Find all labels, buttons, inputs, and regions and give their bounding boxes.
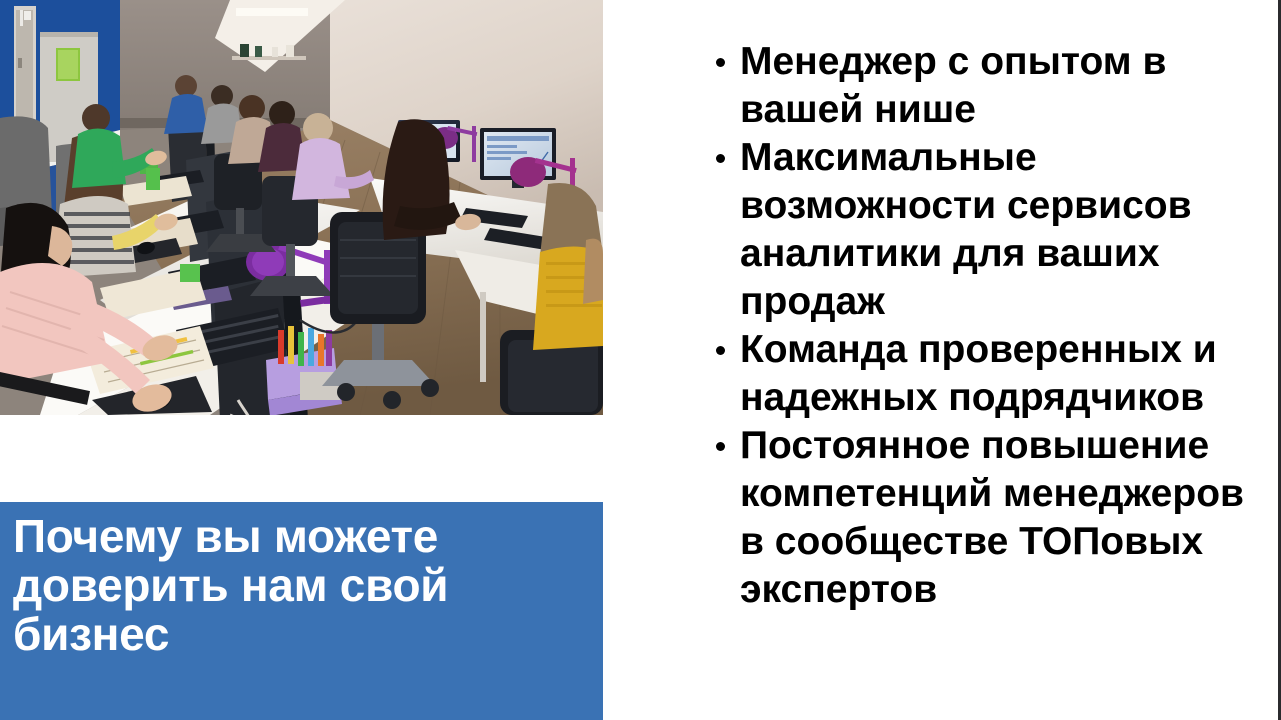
office-team-photo [0, 0, 603, 415]
bullet-item-text: Команда проверенных и надежных подрядчик… [740, 328, 1217, 419]
page-title: Почему вы можете доверить нам свой бизне… [13, 512, 593, 659]
list-item: Команда проверенных и надежных подрядчик… [740, 326, 1260, 422]
benefits-bullet-list: Менеджер с опытом в вашей нише Максималь… [700, 38, 1260, 614]
bullet-dot-icon [716, 346, 725, 355]
list-item: Менеджер с опытом в вашей нише [740, 38, 1260, 134]
bullet-dot-icon [716, 58, 725, 67]
bullet-dot-icon [716, 442, 725, 451]
slide-title-box: Почему вы можете доверить нам свой бизне… [0, 502, 603, 720]
bullet-item-text: Максимальные возможности сервисов аналит… [740, 136, 1192, 323]
slide-canvas: Почему вы можете доверить нам свой бизне… [0, 0, 1281, 720]
office-photo-illustration [0, 0, 603, 415]
bullet-item-text: Менеджер с опытом в вашей нише [740, 40, 1166, 131]
bullet-item-text: Постоянное повышение компетенций менедже… [740, 424, 1244, 611]
bullet-dot-icon [716, 154, 725, 163]
list-item: Постоянное повышение компетенций менедже… [740, 422, 1260, 614]
list-item: Максимальные возможности сервисов аналит… [740, 134, 1260, 326]
